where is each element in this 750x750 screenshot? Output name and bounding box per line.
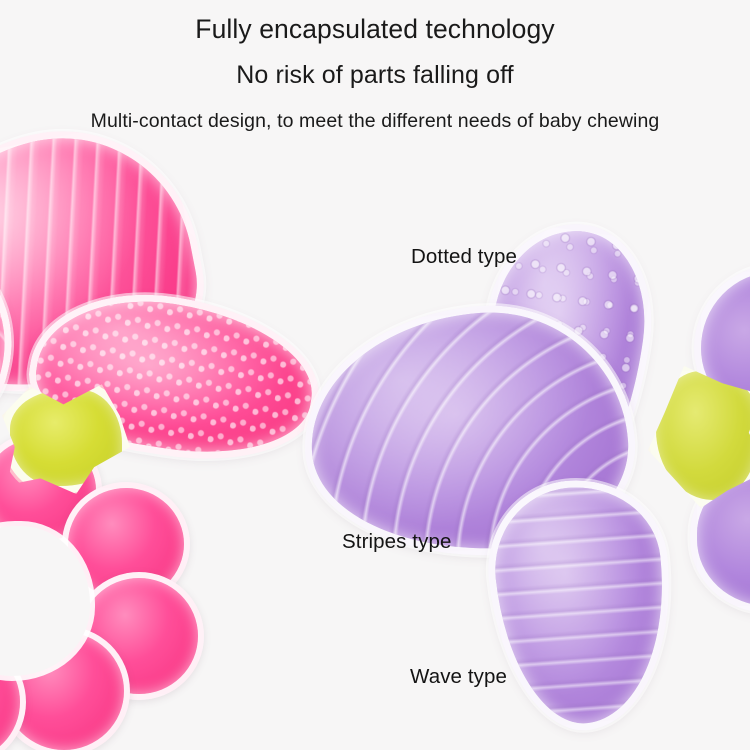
headline-secondary: No risk of parts falling off (0, 61, 750, 90)
product-feature-image: Fully encapsulated technology No risk of… (0, 0, 750, 750)
purple-flower-teether (372, 215, 750, 735)
wave-texture-overlay (487, 479, 677, 731)
headline-primary: Fully encapsulated technology (0, 14, 750, 45)
pink-flower-teether (0, 130, 310, 750)
callout-label-wave-type: Wave type (410, 665, 507, 689)
callout-label-stripes-type: Stripes type (342, 530, 451, 554)
purple-wave-petal (479, 471, 684, 738)
callout-label-dotted-type: Dotted type (411, 245, 517, 269)
